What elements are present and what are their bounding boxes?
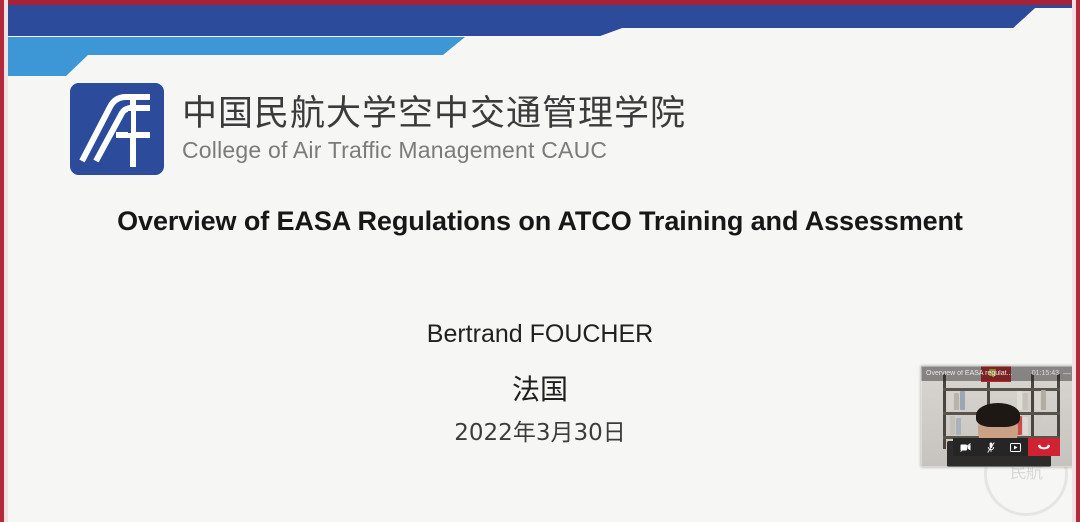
video-call-panel[interactable]: Overview of EASA regulat... 01:15:43 — bbox=[921, 366, 1076, 467]
presenter-country: 法国 bbox=[0, 368, 1080, 408]
book bbox=[1041, 390, 1046, 410]
decorative-banner bbox=[0, 0, 1080, 80]
call-controls bbox=[953, 438, 1060, 456]
cauc-logo-icon bbox=[70, 83, 164, 175]
microphone-muted-icon[interactable] bbox=[978, 438, 1003, 456]
screen-share-icon[interactable] bbox=[1003, 438, 1028, 456]
presentation-date: 2022年3月30日 bbox=[0, 413, 1080, 447]
hangup-icon[interactable] bbox=[1028, 438, 1060, 456]
right-edge-border bbox=[1076, 0, 1080, 522]
presentation-slide: 中国民航大学空中交通管理学院 College of Air Traffic Ma… bbox=[0, 0, 1080, 522]
left-edge-highlight bbox=[4, 0, 8, 522]
call-timer: 01:15:43 bbox=[1032, 370, 1059, 377]
presenter-name: Bertrand FOUCHER bbox=[0, 320, 1080, 349]
video-panel-title: Overview of EASA regulat... bbox=[926, 370, 1028, 377]
organization-name-cn: 中国民航大学空中交通管理学院 bbox=[182, 97, 686, 132]
organization-name-block: 中国民航大学空中交通管理学院 College of Air Traffic Ma… bbox=[182, 97, 686, 162]
book bbox=[954, 393, 959, 410]
organization-logo-row: 中国民航大学空中交通管理学院 College of Air Traffic Ma… bbox=[70, 83, 686, 175]
book bbox=[1023, 417, 1028, 435]
book bbox=[956, 418, 961, 435]
book bbox=[1023, 393, 1028, 410]
camera-off-icon[interactable] bbox=[953, 438, 978, 456]
book bbox=[960, 391, 965, 410]
left-edge-border bbox=[0, 0, 4, 522]
book bbox=[948, 392, 953, 410]
book bbox=[1035, 392, 1040, 410]
slide-title: Overview of EASA Regulations on ATCO Tra… bbox=[0, 206, 1080, 237]
minimize-icon[interactable]: — bbox=[1063, 370, 1071, 378]
participant-hair bbox=[976, 403, 1020, 427]
book bbox=[950, 416, 955, 435]
organization-name-en: College of Air Traffic Management CAUC bbox=[182, 139, 686, 162]
video-panel-titlebar[interactable]: Overview of EASA regulat... 01:15:43 — bbox=[921, 366, 1076, 381]
book bbox=[1017, 391, 1022, 410]
book bbox=[1037, 415, 1042, 435]
